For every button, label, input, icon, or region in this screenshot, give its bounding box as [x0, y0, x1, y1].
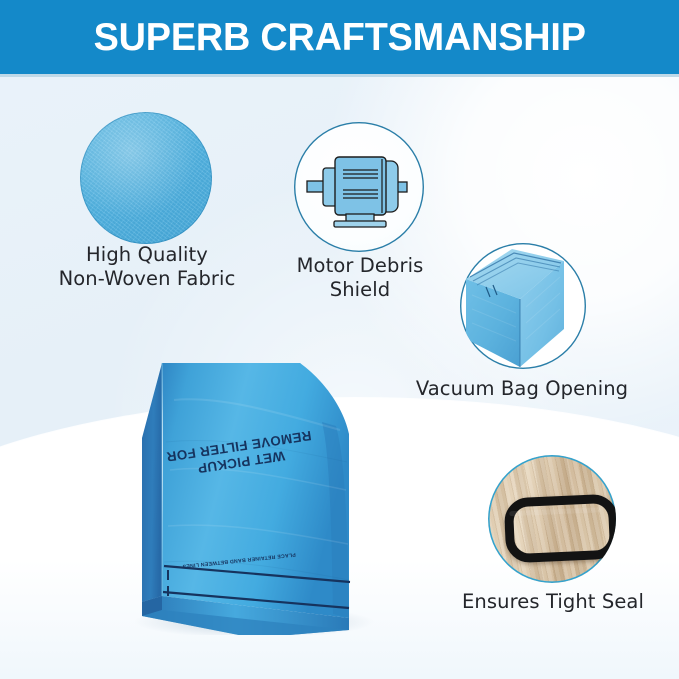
feature-caption-opening: Vacuum Bag Opening — [393, 377, 651, 401]
vacuum-bag-opening-image — [460, 243, 586, 369]
feature-caption-fabric: High Quality Non-Woven Fabric — [36, 243, 258, 291]
header-banner: SUPERB CRAFTSMANSHIP — [0, 0, 679, 74]
fabric-swatch-image — [80, 112, 212, 244]
electric-motor-icon — [306, 148, 412, 228]
rubber-band-shape — [504, 494, 616, 564]
rubber-band-image — [488, 455, 616, 583]
vacuum-bag-product-image: WET PICKUP REMOVE FILTER FOR PLACE RETAI… — [104, 330, 394, 635]
feature-caption-motor: Motor Debris Shield — [262, 254, 458, 302]
motor-circle-frame — [294, 122, 424, 252]
feature-caption-seal: Ensures Tight Seal — [440, 590, 666, 614]
vacuum-bag-illustration — [104, 330, 394, 635]
header-divider — [0, 74, 679, 77]
opening-circle-frame — [460, 243, 586, 369]
page-title: SUPERB CRAFTSMANSHIP — [93, 18, 585, 57]
product-infographic: SUPERB CRAFTSMANSHIP High Quality Non-Wo… — [0, 0, 679, 679]
